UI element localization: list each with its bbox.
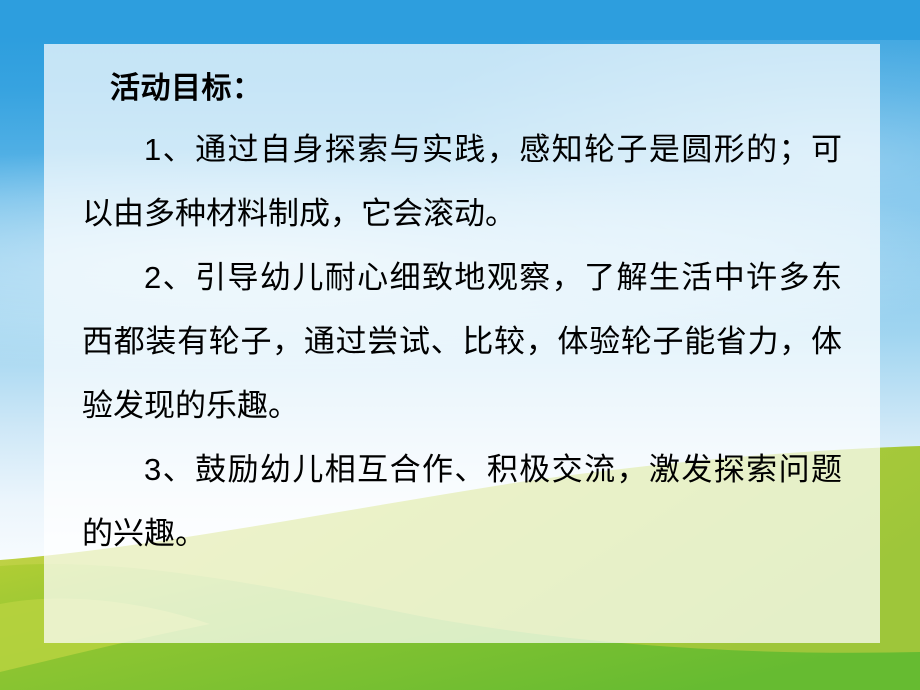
objective-paragraph-3: 3、鼓励幼儿相互合作、积极交流，激发探索问题的兴趣。 [82,438,842,566]
page-title: 活动目标： [82,66,842,112]
content-panel: 活动目标： 1、通过自身探索与实践，感知轮子是圆形的；可以由多种材料制成，它会滚… [44,44,880,643]
objective-paragraph-1: 1、通过自身探索与实践，感知轮子是圆形的；可以由多种材料制成，它会滚动。 [82,118,842,246]
objective-paragraph-2: 2、引导幼儿耐心细致地观察，了解生活中许多东西都装有轮子，通过尝试、比较，体验轮… [82,246,842,438]
presentation-slide: 活动目标： 1、通过自身探索与实践，感知轮子是圆形的；可以由多种材料制成，它会滚… [0,0,920,690]
